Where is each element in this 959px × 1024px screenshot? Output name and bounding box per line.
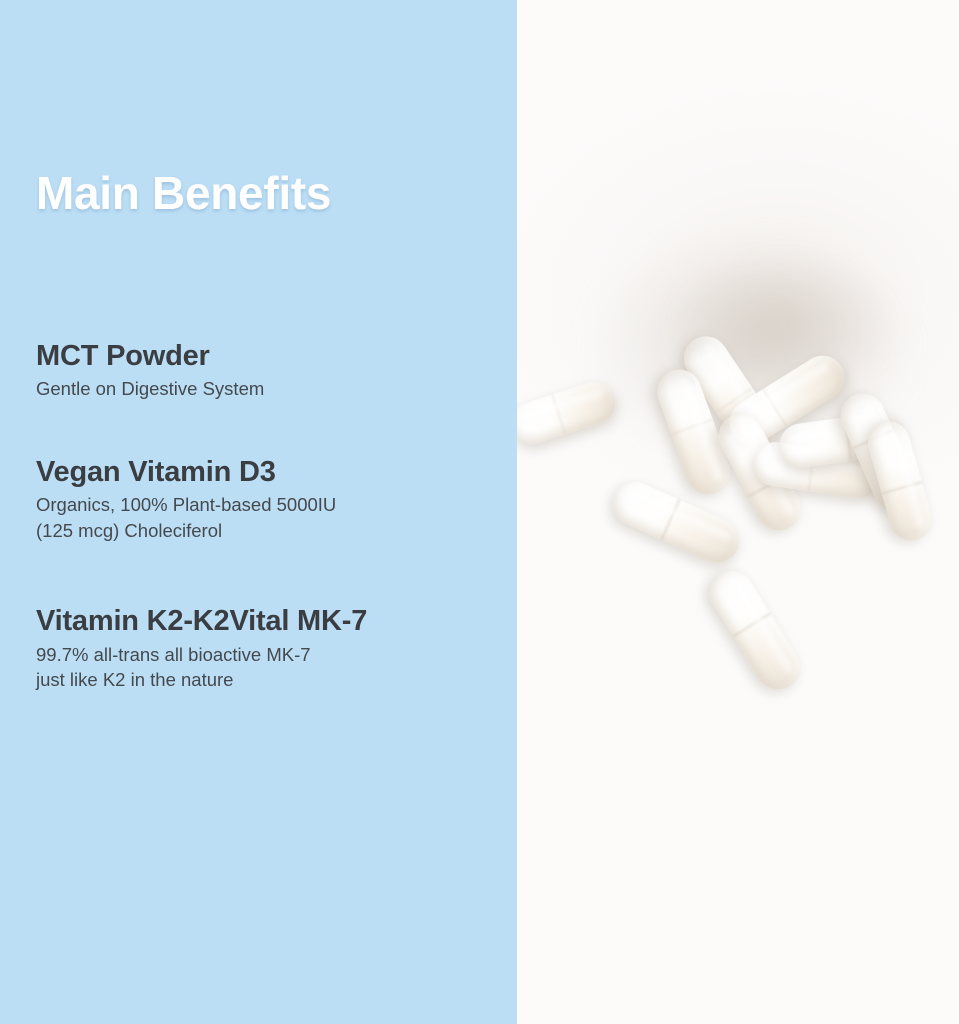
benefit-description-line: Organics, 100% Plant-based 5000IU xyxy=(36,492,506,518)
benefit-description-line: Gentle on Digestive System xyxy=(36,376,506,402)
capsules-product-photo xyxy=(517,0,959,1024)
benefit-title: Vitamin K2-K2Vital MK-7 xyxy=(36,605,506,637)
capsule xyxy=(701,562,808,697)
benefit-item-vitamin-k2: Vitamin K2-K2Vital MK-7 99.7% all-trans … xyxy=(36,605,506,693)
benefit-description: Gentle on Digestive System xyxy=(36,376,506,402)
benefits-list: MCT Powder Gentle on Digestive System Ve… xyxy=(36,340,506,693)
benefit-description: 99.7% all-trans all bioactive MK-7 just … xyxy=(36,642,506,693)
benefit-description-line: just like K2 in the nature xyxy=(36,667,506,693)
benefit-title: MCT Powder xyxy=(36,340,506,372)
page-title: Main Benefits xyxy=(36,166,331,220)
benefits-panel: Main Benefits MCT Powder Gentle on Diges… xyxy=(0,0,517,1024)
product-benefits-poster: Main Benefits MCT Powder Gentle on Diges… xyxy=(0,0,959,1024)
benefit-description: Organics, 100% Plant-based 5000IU (125 m… xyxy=(36,492,506,543)
capsule xyxy=(606,475,746,570)
benefit-title: Vegan Vitamin D3 xyxy=(36,456,506,488)
benefit-item-mct-powder: MCT Powder Gentle on Digestive System xyxy=(36,340,506,402)
benefit-description-line: 99.7% all-trans all bioactive MK-7 xyxy=(36,642,506,668)
benefit-item-vegan-vitamin-d3: Vegan Vitamin D3 Organics, 100% Plant-ba… xyxy=(36,456,506,544)
benefit-description-line: (125 mcg) Choleciferol xyxy=(36,518,506,544)
